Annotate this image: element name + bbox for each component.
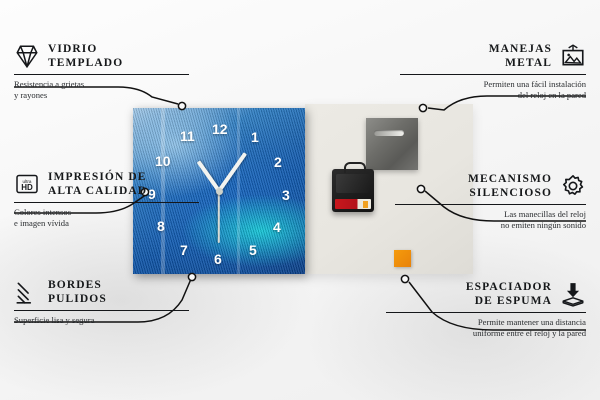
clock-numeral-12: 12 (212, 122, 228, 136)
callout-title: MANEJAS METAL (489, 42, 552, 70)
callout-espaciador-espuma[interactable]: ESPACIADOR DE ESPUMA Permite mantener un… (386, 280, 586, 340)
callout-desc: Las manecillas del reloj no emiten ningú… (395, 209, 586, 232)
callout-impresion-alta-calidad[interactable]: ultra HD IMPRESIÓN DE ALTA CALIDAD Color… (14, 170, 199, 230)
mechanism-body (336, 174, 370, 193)
callout-rule (386, 312, 586, 313)
callout-desc: Superficie lisa y segura (14, 315, 189, 326)
clock-numeral-7: 7 (180, 243, 188, 257)
clock-numeral-5: 5 (249, 243, 257, 257)
hanger-slot (374, 130, 404, 136)
clock-mechanism-box (332, 169, 374, 212)
callout-rule (395, 204, 586, 205)
callout-title: MECANISMO SILENCIOSO (468, 172, 552, 200)
infographic-canvas: 12 1 2 3 4 5 6 7 8 9 10 11 (0, 0, 600, 400)
ultra-hd-icon: ultra HD (14, 171, 40, 197)
callout-manejas-metal[interactable]: MANEJAS METAL Permiten una fácil instala… (400, 42, 586, 102)
clock-minute-hand (217, 152, 247, 192)
clock-numeral-3: 3 (282, 188, 290, 202)
clock-numeral-6: 6 (214, 252, 222, 266)
metal-hanger-plate (366, 118, 418, 170)
callout-rule (14, 310, 189, 311)
callout-rule (14, 74, 189, 75)
callout-desc: Colores intensos e imagen vívida (14, 207, 199, 230)
callout-desc: Permite mantener una distancia uniforme … (386, 317, 586, 340)
mechanism-handle (344, 162, 366, 173)
wall-hanging-icon (560, 43, 586, 69)
callout-bordes-pulidos[interactable]: BORDES PULIDOS Superficie lisa y segura (14, 278, 189, 326)
foam-spacer-piece (394, 250, 411, 267)
mechanism-marker (363, 201, 368, 208)
callout-vidrio-templado[interactable]: VIDRIO TEMPLADO Resistencia a grietas y … (14, 42, 189, 102)
foam-spacer-icon (560, 281, 586, 307)
callout-title: ESPACIADOR DE ESPUMA (466, 280, 552, 308)
callout-rule (400, 74, 586, 75)
gear-icon (560, 173, 586, 199)
callout-mecanismo-silencioso[interactable]: MECANISMO SILENCIOSO Las manecillas del … (395, 172, 586, 232)
svg-text:HD: HD (21, 183, 33, 192)
clock-numeral-10: 10 (155, 154, 171, 168)
clock-numeral-2: 2 (274, 155, 282, 169)
clock-numeral-11: 11 (180, 129, 195, 143)
diamond-icon (14, 43, 40, 69)
callout-title: IMPRESIÓN DE ALTA CALIDAD (48, 170, 147, 198)
callout-rule (14, 202, 199, 203)
clock-center-cap (216, 188, 223, 195)
polished-edges-icon (14, 279, 40, 305)
clock-numeral-1: 1 (251, 130, 259, 144)
clock-second-hand (218, 191, 220, 243)
callout-desc: Resistencia a grietas y rayones (14, 79, 189, 102)
callout-title: VIDRIO TEMPLADO (48, 42, 123, 70)
clock-numeral-4: 4 (273, 220, 281, 234)
callout-title: BORDES PULIDOS (48, 278, 107, 306)
callout-desc: Permiten una fácil instalación del reloj… (400, 79, 586, 102)
